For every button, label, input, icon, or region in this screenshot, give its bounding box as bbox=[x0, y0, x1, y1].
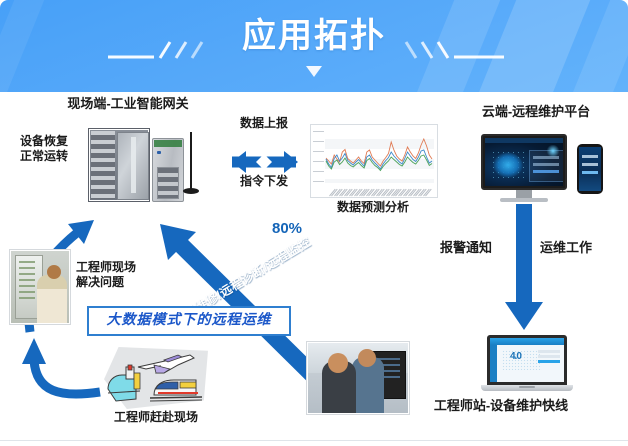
monitor-screen bbox=[485, 138, 563, 186]
monitor-logo-glow-icon bbox=[546, 145, 560, 157]
monitor-topbar bbox=[485, 138, 563, 143]
mobile-phone-device bbox=[577, 144, 603, 194]
industrial-gateway-device bbox=[152, 138, 184, 202]
page-title: 应用拓扑 bbox=[0, 14, 628, 58]
monitor-map-glow-icon bbox=[493, 152, 523, 178]
chart-caption: 数据预测分析 bbox=[310, 200, 436, 215]
chart-plot-area bbox=[325, 129, 434, 183]
cabinet-racks bbox=[91, 131, 115, 199]
panel-wiring bbox=[19, 261, 35, 301]
diagram-canvas: 现场端-工业智能网关 设备恢复 正常运转 数据上报 指令下发 bbox=[0, 92, 628, 446]
prediction-chart bbox=[310, 124, 438, 198]
laptop-screen: 4.0 bbox=[487, 335, 567, 385]
onsite-engineer bbox=[37, 275, 67, 323]
industrial-cabinet-photo bbox=[88, 128, 150, 202]
cloud-platform-title: 云端-远程维护平台 bbox=[452, 104, 620, 120]
page-header: 应用拓扑 bbox=[0, 0, 628, 92]
transport-illustration bbox=[104, 347, 208, 409]
cloud-platform-monitor bbox=[481, 134, 567, 190]
laptop-world-map-icon bbox=[502, 350, 542, 370]
arrow-cloud-to-laptop bbox=[505, 204, 543, 330]
chart-series-lines bbox=[325, 129, 433, 183]
laptop-app-sidebar bbox=[490, 345, 497, 382]
laptop-app-header bbox=[490, 338, 564, 345]
engineer-standing-head bbox=[358, 349, 376, 367]
gateway-led bbox=[157, 151, 161, 154]
bigdata-banner: 大数据模式下的远程运维 bbox=[87, 306, 291, 336]
arrow-gateway-chart bbox=[232, 151, 298, 173]
chart-y-axis bbox=[313, 129, 325, 183]
device-recovery-label: 设备恢复 正常运转 bbox=[0, 134, 88, 164]
bigdata-banner-text: 大数据模式下的远程运维 bbox=[89, 308, 289, 330]
gateway-antenna-icon bbox=[190, 132, 192, 190]
laptop-version-badge: 4.0 bbox=[510, 351, 521, 362]
engineer-onsite-label: 工程师现场 解决问题 bbox=[76, 260, 136, 290]
onsite-engineer-head bbox=[47, 265, 61, 279]
arrow-transport-to-onsite bbox=[22, 338, 100, 394]
laptop-web-app: 4.0 bbox=[490, 338, 564, 382]
monitor-base bbox=[500, 198, 548, 202]
application-topology-infographic: 应用拓扑 bbox=[0, 0, 628, 446]
laptop-trackpad-notch bbox=[519, 386, 535, 388]
engineer-station-title: 工程师站-设备维护快线 bbox=[374, 398, 628, 414]
train-icon bbox=[148, 377, 204, 403]
engineer-onsite-photo bbox=[10, 250, 70, 324]
transport-caption: 工程师赶赴现场 bbox=[78, 410, 234, 425]
phone-screen bbox=[579, 147, 601, 191]
engineer-station-laptop: 4.0 bbox=[481, 335, 573, 393]
cabinet-light-strip bbox=[131, 137, 136, 193]
alarm-notify-label: 报警通知 bbox=[440, 240, 492, 256]
field-gateway-title: 现场端-工业智能网关 bbox=[40, 96, 216, 112]
bottom-divider bbox=[0, 440, 628, 441]
engineer-station-photo bbox=[307, 342, 409, 414]
chart-x-axis-ticks bbox=[325, 184, 434, 197]
gateway-antenna-base bbox=[183, 188, 199, 194]
command-dispatch-label: 指令下发 bbox=[212, 174, 316, 189]
ops-work-label: 运维工作 bbox=[540, 240, 592, 256]
data-upload-label: 数据上报 bbox=[212, 116, 316, 131]
header-caret-down-icon bbox=[306, 66, 322, 77]
laptop-login-form bbox=[538, 350, 560, 365]
gateway-ports bbox=[157, 167, 179, 199]
remote-percentage-label: 80% bbox=[272, 220, 302, 237]
engineer-seated-head bbox=[328, 353, 348, 373]
gateway-terminal-block bbox=[154, 140, 182, 147]
